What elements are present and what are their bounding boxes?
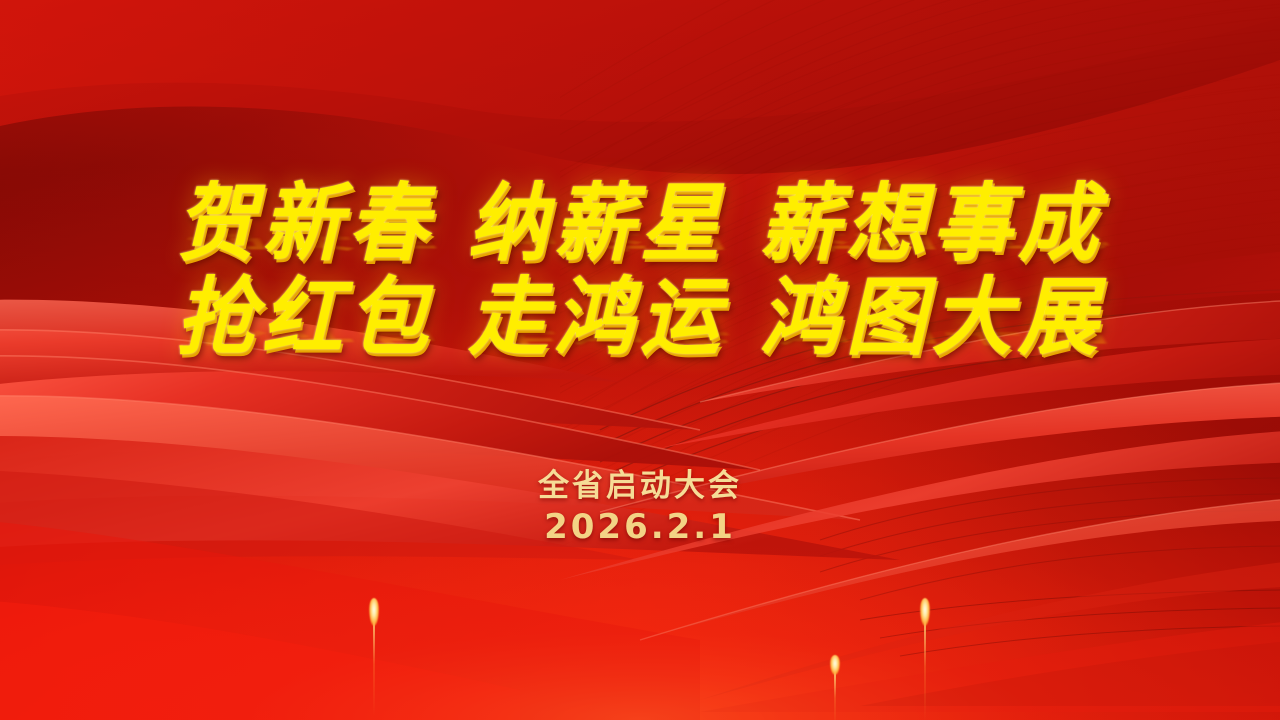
title-line-2: 抢红包 走鸿运 鸿图大展 抢红包 走鸿运 鸿图大展: [0, 270, 1280, 364]
event-date: 2026.2.1: [0, 506, 1280, 548]
title-line-1: 贺新春 纳薪星 薪想事成 贺新春 纳薪星 薪想事成: [0, 176, 1280, 270]
subtitle-block: 全省启动大会 2026.2.1: [0, 466, 1280, 548]
event-name: 全省启动大会: [0, 466, 1280, 506]
title-line-1-text: 贺新春 纳薪星 薪想事成: [176, 173, 1104, 273]
new-year-poster: 贺新春 纳薪星 薪想事成 贺新春 纳薪星 薪想事成 抢红包 走鸿运 鸿图大展 抢…: [0, 0, 1280, 720]
main-title: 贺新春 纳薪星 薪想事成 贺新春 纳薪星 薪想事成 抢红包 走鸿运 鸿图大展 抢…: [0, 176, 1280, 364]
title-line-2-text: 抢红包 走鸿运 鸿图大展: [176, 267, 1104, 367]
